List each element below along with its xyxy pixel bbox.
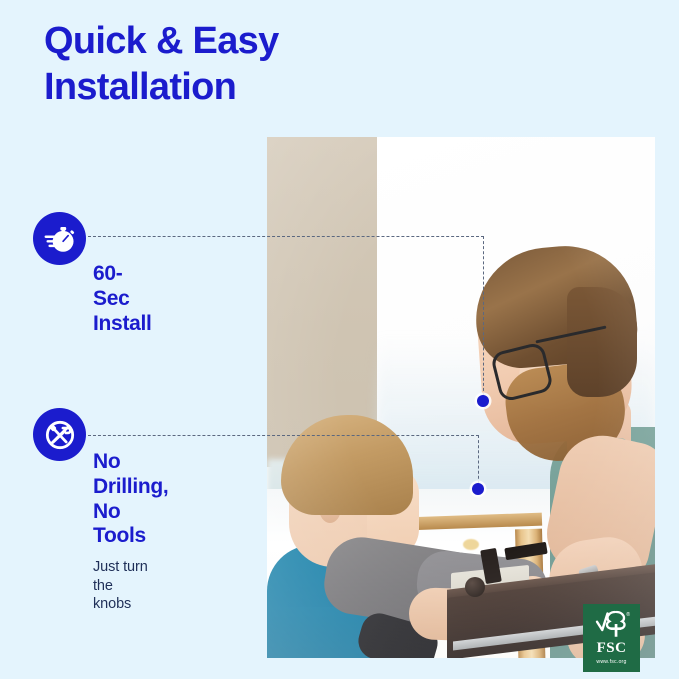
page-title-line1: Quick & Easy	[44, 20, 279, 62]
no-tools-icon	[33, 408, 86, 461]
fsc-tree-checkmark-icon: ®	[592, 609, 632, 639]
fsc-label: FSC	[597, 641, 627, 656]
feature-no-drilling-text: No Drilling, No Tools Just turn the knob…	[93, 450, 168, 614]
connector-endpoint-60sec	[477, 395, 489, 407]
creative-canvas: Quick & Easy Installation	[0, 0, 679, 679]
fsc-trademark: ®	[626, 611, 630, 618]
product-lifestyle-photo	[267, 137, 655, 658]
rail-tightening-knob	[465, 577, 485, 597]
page-title-line2: Installation	[44, 64, 374, 110]
fsc-certification-badge: ® FSC www.fsc.org	[583, 604, 640, 672]
man-hair-side	[567, 287, 637, 397]
feature-60-sec-text: 60-Sec Install	[93, 262, 152, 336]
connector-endpoint-nodrill	[472, 483, 484, 495]
feature-no-drilling-title: No Drilling, No Tools	[93, 450, 168, 549]
feature-60-sec-title: 60-Sec Install	[93, 262, 152, 336]
feature-no-drilling-subtitle: Just turn the knobs	[93, 558, 168, 614]
page-title: Quick & Easy Installation	[44, 18, 374, 111]
stopwatch-speed-icon	[33, 212, 86, 265]
fsc-url: www.fsc.org	[596, 659, 626, 665]
